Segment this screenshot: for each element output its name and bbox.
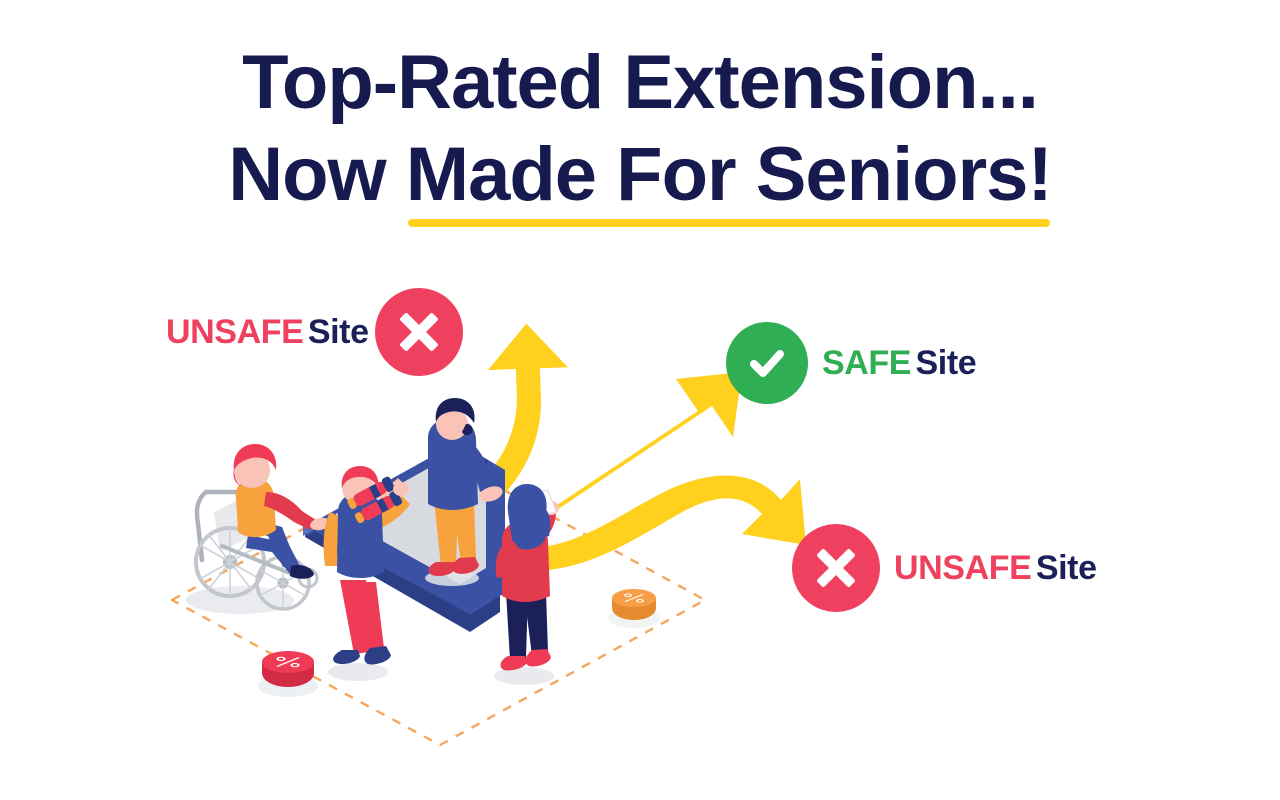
headline-line-2: Now Made For Seniors!	[0, 130, 1280, 224]
poster-canvas: Top-Rated Extension... Now Made For Seni…	[0, 0, 1280, 800]
status-word-unsafe: UNSAFE	[166, 313, 303, 351]
tablet-icon	[524, 490, 556, 518]
person-standing-on-phone	[425, 398, 505, 586]
status-badge-unsafe-bottom-label: UNSAFE Site	[894, 549, 1097, 588]
percent-coin-red	[258, 651, 318, 697]
status-word-unsafe: UNSAFE	[894, 549, 1031, 587]
ground-plane-dashed-outline	[172, 455, 705, 745]
status-badge-unsafe-top[interactable]: UNSAFE Site	[166, 288, 463, 376]
arrow-to-unsafe-bottom	[492, 475, 806, 570]
x-mark-icon	[375, 288, 463, 376]
status-badge-safe-label: SAFE Site	[822, 344, 976, 383]
person-in-wheelchair	[186, 444, 331, 614]
page-title: Top-Rated Extension... Now Made For Seni…	[0, 38, 1280, 223]
status-word-safe: SAFE	[822, 344, 911, 382]
binoculars-icon	[345, 476, 403, 526]
headline-line-2-prefix: Now	[228, 132, 406, 217]
status-badge-unsafe-bottom[interactable]: UNSAFE Site	[792, 524, 1097, 612]
woman-with-tablet	[494, 484, 559, 685]
arrow-to-safe	[500, 372, 742, 543]
site-word: Site	[308, 313, 369, 351]
headline-underlined-phrase: Made For Seniors!	[406, 130, 1052, 224]
person-with-binoculars	[324, 466, 410, 681]
site-word: Site	[1036, 549, 1097, 587]
site-word: Site	[916, 344, 977, 382]
status-badge-unsafe-top-label: UNSAFE Site	[166, 313, 369, 352]
check-mark-icon	[726, 322, 808, 404]
percent-coin-orange	[608, 589, 660, 628]
phone-earpiece	[455, 458, 489, 480]
status-badge-safe[interactable]: SAFE Site	[726, 322, 976, 404]
headline-line-1: Top-Rated Extension...	[0, 38, 1280, 128]
x-mark-icon	[792, 524, 880, 612]
isometric-phone	[303, 442, 505, 632]
